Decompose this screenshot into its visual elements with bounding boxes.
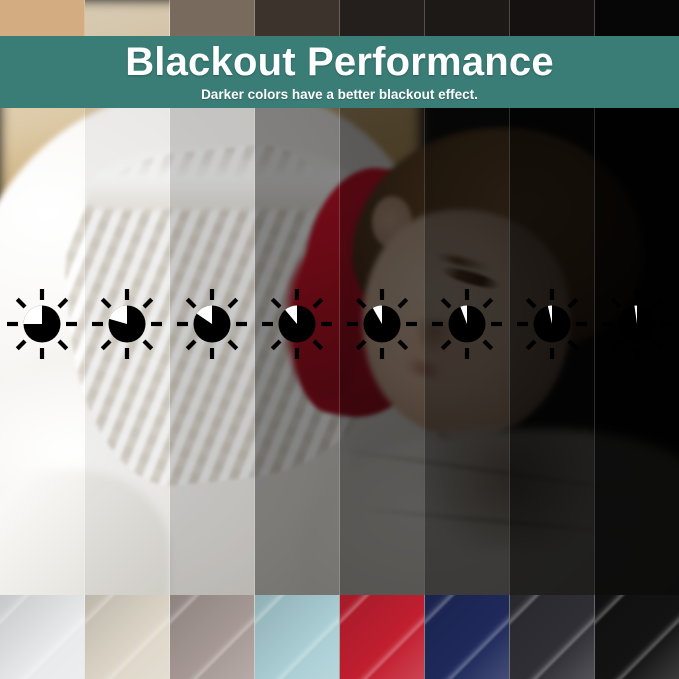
blackout-performance-infographic: Blackout Performance Darker colors have … bbox=[0, 0, 679, 679]
fabric-fold-highlights bbox=[595, 595, 679, 679]
fabric-fold-highlights bbox=[425, 595, 510, 679]
top-swatch-taupe bbox=[170, 0, 255, 36]
brightness-sun-gauge-icon bbox=[430, 287, 504, 361]
top-swatch-black bbox=[595, 0, 679, 36]
top-swatch-red bbox=[340, 0, 425, 36]
fabric-swatch-light-blue[interactable] bbox=[255, 595, 340, 679]
top-swatch-white bbox=[0, 0, 85, 36]
fabric-swatch-red[interactable] bbox=[340, 595, 425, 679]
page-title: Blackout Performance bbox=[125, 41, 554, 83]
fabric-fold-highlights bbox=[85, 595, 170, 679]
fabric-swatch-beige[interactable] bbox=[85, 595, 170, 679]
brightness-gauge-cell-7 bbox=[509, 278, 594, 370]
top-swatch-navy-blue bbox=[425, 0, 510, 36]
brightness-sun-gauge-icon bbox=[260, 287, 334, 361]
brightness-gauge-cell-3 bbox=[170, 278, 255, 370]
top-swatch-light-blue bbox=[255, 0, 340, 36]
brightness-gauge-cell-8 bbox=[594, 278, 679, 370]
fabric-swatch-row bbox=[0, 595, 679, 679]
brightness-gauge-cell-6 bbox=[424, 278, 509, 370]
brightness-sun-gauge-icon bbox=[5, 287, 79, 361]
fabric-fold-highlights bbox=[170, 595, 255, 679]
fabric-swatch-navy-blue[interactable] bbox=[425, 595, 510, 679]
brightness-sun-gauge-icon bbox=[90, 287, 164, 361]
fabric-swatch-black[interactable] bbox=[595, 595, 679, 679]
fabric-fold-highlights bbox=[340, 595, 425, 679]
fabric-swatch-taupe[interactable] bbox=[170, 595, 255, 679]
top-swatch-beige bbox=[85, 0, 170, 36]
brightness-gauge-cell-2 bbox=[85, 278, 170, 370]
brightness-gauge-cell-5 bbox=[340, 278, 425, 370]
fabric-fold-highlights bbox=[255, 595, 340, 679]
brightness-gauge-cell-1 bbox=[0, 278, 85, 370]
brightness-sun-gauge-icon bbox=[600, 287, 674, 361]
top-swatch-charcoal-grey bbox=[510, 0, 595, 36]
brightness-sun-gauge-icon bbox=[515, 287, 589, 361]
banner: Blackout Performance Darker colors have … bbox=[0, 36, 679, 108]
top-color-strip bbox=[0, 0, 679, 36]
brightness-icon-row bbox=[0, 278, 679, 370]
brightness-sun-gauge-icon bbox=[345, 287, 419, 361]
brightness-gauge-cell-4 bbox=[255, 278, 340, 370]
fabric-swatch-charcoal-grey[interactable] bbox=[510, 595, 595, 679]
fabric-fold-highlights bbox=[510, 595, 595, 679]
fabric-fold-highlights bbox=[0, 595, 85, 679]
fabric-swatch-white[interactable] bbox=[0, 595, 85, 679]
brightness-sun-gauge-icon bbox=[175, 287, 249, 361]
page-subtitle: Darker colors have a better blackout eff… bbox=[201, 87, 478, 103]
